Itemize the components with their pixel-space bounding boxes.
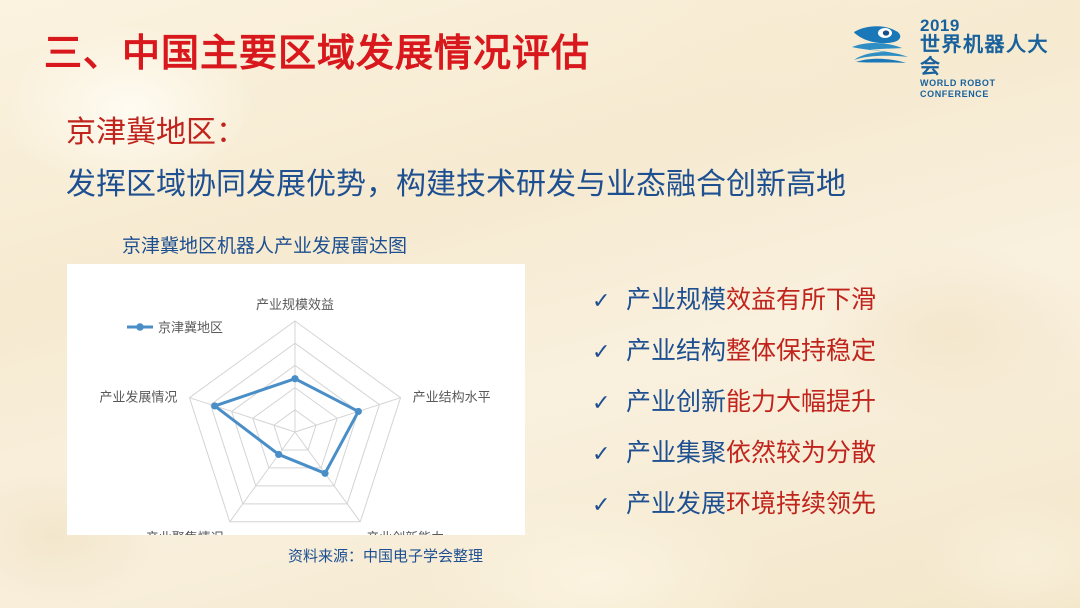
radar-axis-label: 产业聚集情况 bbox=[146, 530, 224, 535]
subtitle-statement: 发挥区域协同发展优势，构建技术研发与业态融合创新高地 bbox=[66, 159, 846, 203]
radar-data-point bbox=[321, 470, 328, 477]
bullet-text-emphasis: 环境持续领先 bbox=[726, 490, 876, 518]
radar-series-jingjinji bbox=[211, 375, 362, 477]
bullet-text-primary: 产业创新 bbox=[626, 388, 726, 416]
conference-logo: 2019 世界机器人大会 WORLD ROBOT CONFERENCE bbox=[850, 18, 1062, 72]
wrc-wave-icon bbox=[850, 22, 916, 68]
bullet-text-emphasis: 效益有所下滑 bbox=[726, 286, 876, 314]
bullet-text: 产业规模效益有所下滑 bbox=[626, 288, 876, 313]
bullet-text-emphasis: 整体保持稳定 bbox=[726, 337, 876, 365]
bullet-item: ✓产业规模效益有所下滑 bbox=[592, 275, 1012, 326]
radar-data-point bbox=[291, 375, 298, 382]
check-icon: ✓ bbox=[592, 392, 626, 414]
slide-root: 三、中国主要区域发展情况评估 2019 世界机器人大会 WORLD ROBOT … bbox=[0, 0, 1080, 608]
bullet-text-primary: 产业规模 bbox=[626, 286, 726, 314]
radar-axis-label: 产业结构水平 bbox=[413, 390, 491, 405]
bullet-text-emphasis: 能力大幅提升 bbox=[726, 388, 876, 416]
radar-axis-line bbox=[295, 398, 401, 432]
legend-marker-icon bbox=[136, 323, 144, 331]
logo-name-en: WORLD ROBOT CONFERENCE bbox=[920, 78, 1062, 100]
bullet-text-emphasis: 依然较为分散 bbox=[726, 439, 876, 467]
check-icon: ✓ bbox=[592, 290, 626, 312]
page-title: 三、中国主要区域发展情况评估 bbox=[44, 22, 590, 77]
bullet-item: ✓产业创新能力大幅提升 bbox=[592, 377, 1012, 428]
conclusion-bullet-list: ✓产业规模效益有所下滑✓产业结构整体保持稳定✓产业创新能力大幅提升✓产业集聚依然… bbox=[592, 275, 1012, 530]
radar-chart: 产业规模效益产业结构水平产业创新能力产业聚集情况产业发展情况 京津冀地区 bbox=[67, 264, 525, 535]
bullet-text: 产业创新能力大幅提升 bbox=[626, 390, 876, 415]
check-icon: ✓ bbox=[592, 494, 626, 516]
radar-axis-label: 产业创新能力 bbox=[366, 530, 444, 535]
radar-axis-label: 产业规模效益 bbox=[256, 297, 334, 312]
radar-data-point bbox=[355, 408, 362, 415]
chart-source-note: 资料来源：中国电子学会整理 bbox=[288, 545, 483, 566]
logo-name-cn: 世界机器人大会 bbox=[920, 34, 1062, 78]
legend-label: 京津冀地区 bbox=[158, 320, 223, 335]
radar-axis-line bbox=[230, 432, 295, 522]
bullet-text-primary: 产业发展 bbox=[626, 490, 726, 518]
radar-data-point bbox=[211, 402, 218, 409]
bullet-text: 产业结构整体保持稳定 bbox=[626, 339, 876, 364]
radar-axis-label: 产业发展情况 bbox=[99, 390, 177, 405]
check-icon: ✓ bbox=[592, 341, 626, 363]
radar-axis-line bbox=[295, 432, 360, 522]
radar-chart-panel: 产业规模效益产业结构水平产业创新能力产业聚集情况产业发展情况 京津冀地区 bbox=[67, 264, 525, 535]
radar-data-point bbox=[275, 451, 282, 458]
bullet-item: ✓产业发展环境持续领先 bbox=[592, 479, 1012, 530]
radar-legend: 京津冀地区 bbox=[127, 320, 223, 335]
logo-text-block: 2019 世界机器人大会 WORLD ROBOT CONFERENCE bbox=[920, 18, 1062, 100]
radar-grid bbox=[189, 321, 400, 522]
bullet-text: 产业发展环境持续领先 bbox=[626, 492, 876, 517]
bullet-text-primary: 产业集聚 bbox=[626, 439, 726, 467]
bullet-item: ✓产业结构整体保持稳定 bbox=[592, 326, 1012, 377]
subtitle-region-label: 京津冀地区： bbox=[66, 107, 246, 151]
chart-title: 京津冀地区机器人产业发展雷达图 bbox=[122, 231, 407, 258]
bullet-text: 产业集聚依然较为分散 bbox=[626, 441, 876, 466]
bullet-item: ✓产业集聚依然较为分散 bbox=[592, 428, 1012, 479]
bullet-text-primary: 产业结构 bbox=[626, 337, 726, 365]
logo-year: 2019 bbox=[920, 18, 1062, 34]
check-icon: ✓ bbox=[592, 443, 626, 465]
